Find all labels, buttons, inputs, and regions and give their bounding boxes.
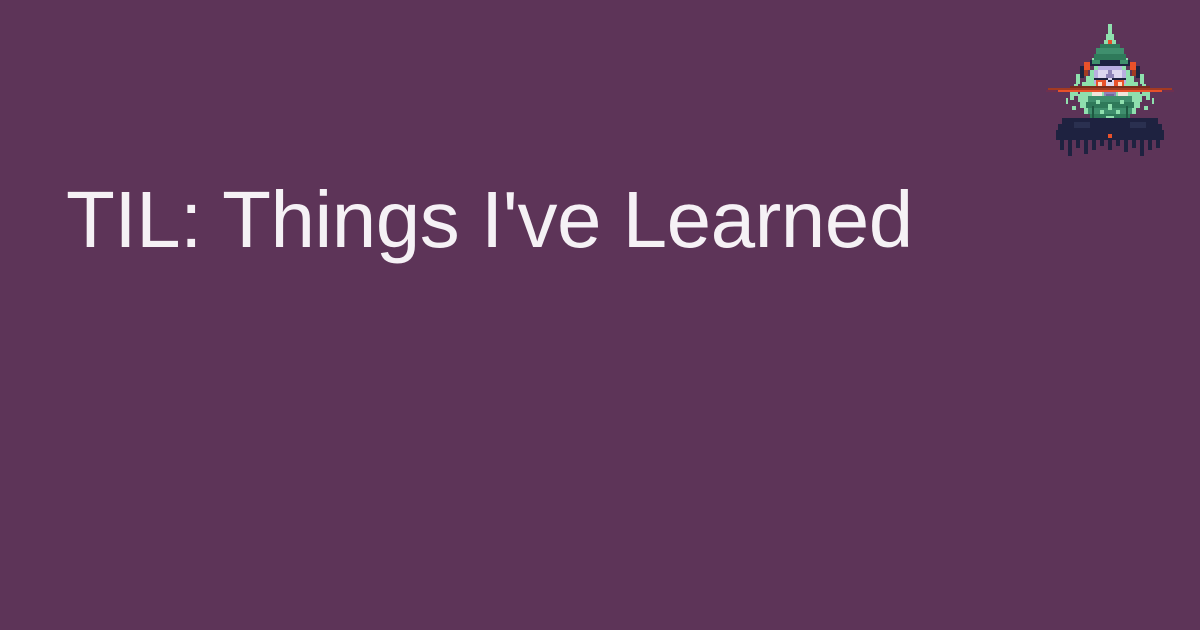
site-logo[interactable] — [1046, 18, 1174, 158]
page-title: TIL: Things I've Learned — [66, 172, 913, 268]
pixel-art-bearded-figure-icon — [1046, 18, 1174, 158]
og-card: TIL: Things I've Learned — [0, 0, 1200, 630]
